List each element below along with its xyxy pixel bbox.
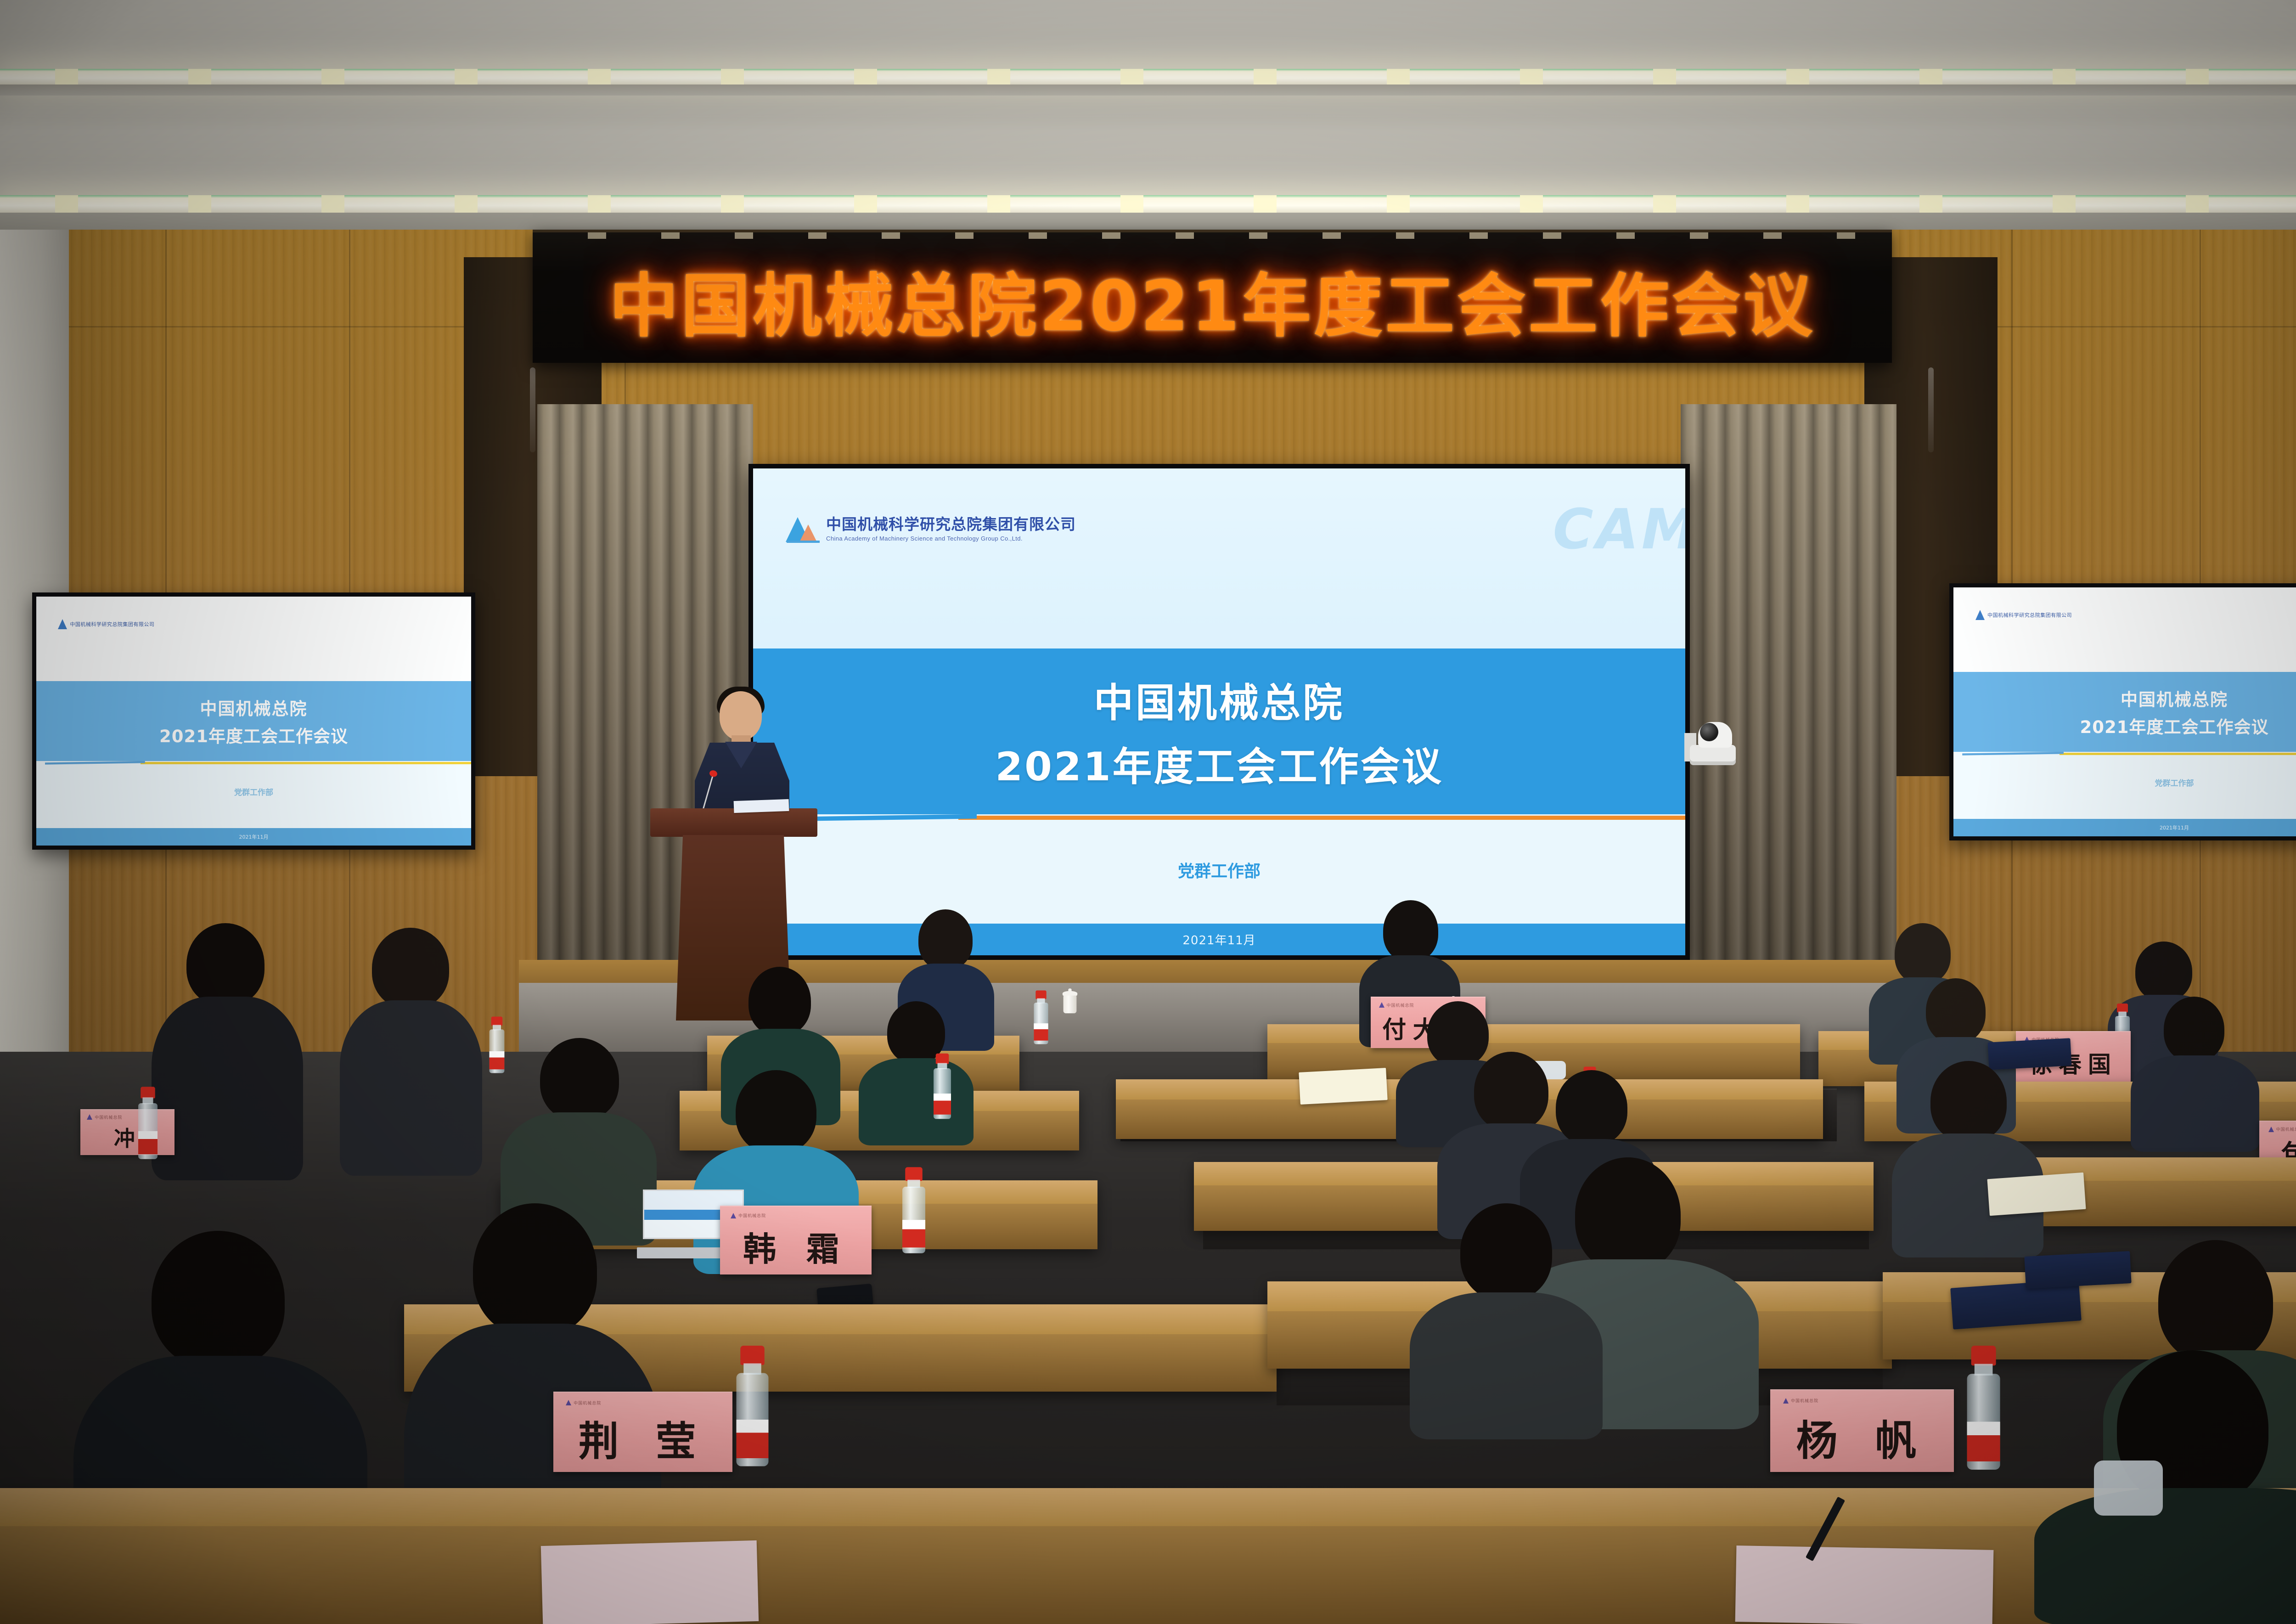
nameplate-name: 杨 帆 (1770, 1407, 1954, 1467)
slide-title-band: 中国机械总院 2021年度工会工作会议 (753, 648, 1685, 814)
water-bottle (137, 1087, 158, 1159)
ceiling-shadow-band (0, 85, 2296, 96)
attendee-row-d-2 (1410, 1203, 1603, 1433)
monitor-left-title-line2: 2021年度工会工作会议 (159, 722, 348, 747)
cam-watermark: CAM (1553, 498, 1685, 562)
monitor-right-title-line2: 2021年度工会工作会议 (2080, 713, 2269, 738)
tea-cup (1062, 991, 1078, 1014)
slide-title-line1: 中国机械总院 (1094, 671, 1345, 728)
monitor-left-department: 党群工作部 (36, 786, 471, 797)
monitor-right-date: 2021年11月 (2160, 824, 2189, 831)
slide-title-line2: 2021年度工会工作会议 (995, 734, 1443, 792)
paper-sheet (541, 1540, 759, 1624)
water-bottle (901, 1167, 927, 1253)
side-monitor-right: 中国机械科学研究总院集团有限公司 中国机械总院 2021年度工会工作会议 党群工… (1949, 583, 2296, 840)
side-monitor-left: 中国机械科学研究总院集团有限公司 中国机械总院 2021年度工会工作会议 党群工… (32, 592, 475, 850)
water-bottle (1033, 991, 1049, 1044)
ceiling (0, 0, 2296, 239)
ceiling-light-strip-lower (0, 195, 2296, 213)
slide-header-area (753, 468, 1685, 648)
nameplate-header: 中国机械总院 (738, 1212, 766, 1218)
monitor-right-department: 党群工作部 (1953, 777, 2296, 788)
monitor-left-logo: 中国机械科学研究总院集团有限公司 (58, 619, 154, 629)
nameplate-jingying: 中国机械总院 荆 莹 (553, 1392, 732, 1472)
nameplate-yangfan: 中国机械总院 杨 帆 (1770, 1389, 1954, 1472)
logo-triangle-icon (1975, 610, 1985, 620)
face-mask (2094, 1460, 2163, 1516)
nameplate-name: 韩 霜 (720, 1222, 872, 1270)
ceiling-light-strip-upper (0, 69, 2296, 85)
nameplate-header: 中国机械总院 (95, 1114, 122, 1120)
logo-chinese-name: 中国机械科学研究总院集团有限公司 (826, 512, 1076, 534)
attendee-row-c-7 (1892, 1061, 2043, 1254)
notepad (1987, 1173, 2086, 1216)
nameplate-header: 中国机械总院 (2276, 1126, 2296, 1132)
monitor-left-date: 2021年11月 (239, 833, 269, 840)
led-banner: 中国机械总院2021年度工会工作会议 (533, 230, 1892, 363)
attendee-row-b-5 (859, 1001, 974, 1139)
slide-footer-bar: 2021年11月 (753, 924, 1685, 955)
ptz-camera-icon (1690, 711, 1739, 765)
notebook (2024, 1251, 2131, 1289)
led-banner-text: 中国机械总院2021年度工会工作会议 (533, 250, 1892, 350)
nameplate-chong: 中国机械总院 冲 (80, 1109, 174, 1155)
paper-sheet (1735, 1545, 1994, 1624)
logo-triangle-icon (58, 619, 67, 629)
nameplate-header: 中国机械总院 (1791, 1398, 1818, 1404)
logo-triangles-icon (786, 516, 821, 542)
attendee-row-b-4 (2131, 997, 2259, 1148)
water-bottle (735, 1346, 770, 1466)
company-logo: 中国机械科学研究总院集团有限公司 China Academy of Machin… (786, 512, 1076, 542)
monitor-right-logo: 中国机械科学研究总院集团有限公司 (1975, 610, 2072, 620)
monitor-left-title-line1: 中国机械总院 (200, 695, 308, 720)
podium-papers (734, 799, 789, 813)
logo-english-name: China Academy of Machinery Science and T… (826, 535, 1076, 542)
notepad (1299, 1068, 1387, 1105)
nameplate-name: 冲 (80, 1122, 174, 1152)
attendee-row-c-2 (340, 928, 482, 1176)
monitor-right-logo-text: 中国机械科学研究总院集团有限公司 (1987, 611, 2072, 619)
water-bottle (933, 1054, 952, 1119)
conference-room-photo: 中国机械总院2021年度工会工作会议 中国机械科学研究总院集团有限公司 Chin… (0, 0, 2296, 1624)
slide-accent-rule (753, 814, 1685, 823)
slide-date: 2021年11月 (1182, 931, 1255, 948)
nameplate-header: 中国机械总院 (574, 1400, 601, 1406)
nameplate-hanshuang: 中国机械总院 韩 霜 (720, 1206, 872, 1274)
water-bottle (1965, 1346, 2002, 1470)
nameplate-name: 荆 莹 (553, 1409, 732, 1467)
presentation-slide: 中国机械科学研究总院集团有限公司 China Academy of Machin… (753, 468, 1685, 955)
monitor-left-logo-text: 中国机械科学研究总院集团有限公司 (70, 620, 154, 628)
main-projection-screen: 中国机械科学研究总院集团有限公司 China Academy of Machin… (748, 464, 1690, 960)
monitor-right-title-line1: 中国机械总院 (2121, 686, 2228, 710)
slide-department: 党群工作部 (753, 858, 1685, 882)
attendee-foreground-right (2034, 1350, 2296, 1624)
